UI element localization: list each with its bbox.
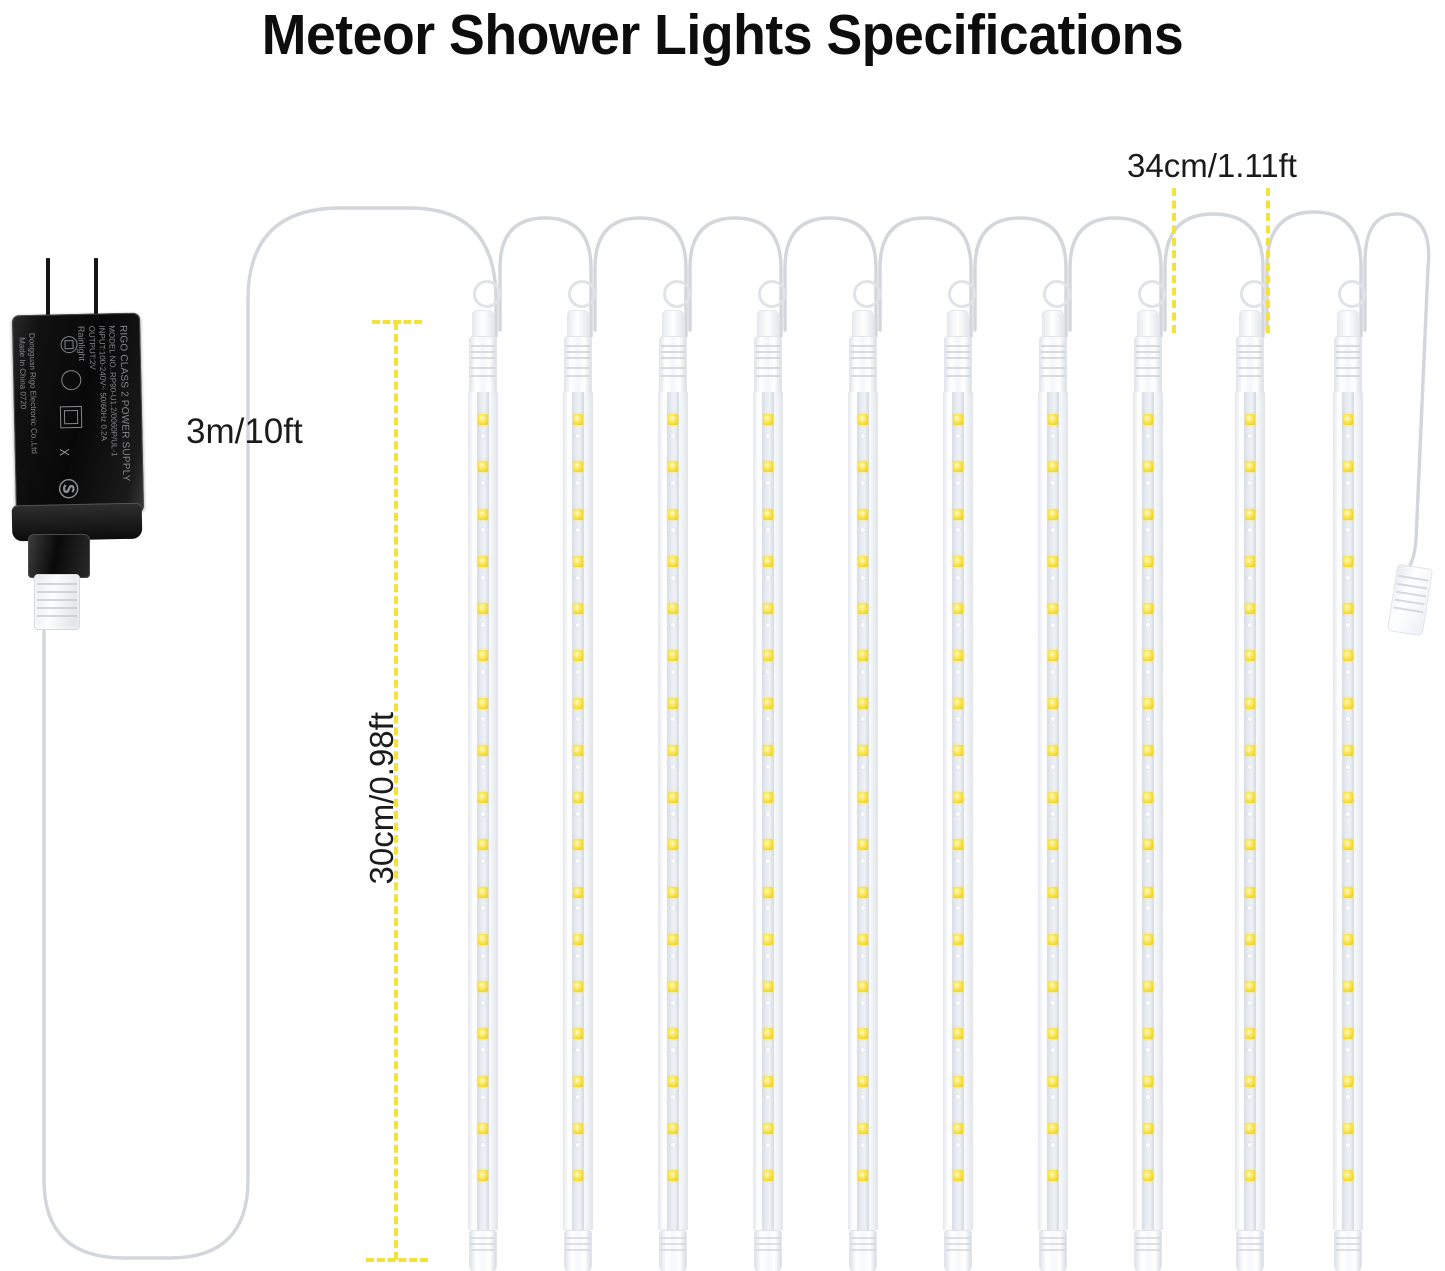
pcb-solder-dot <box>1248 812 1252 816</box>
led-chip <box>478 934 488 945</box>
pcb-solder-dot <box>481 954 485 958</box>
pcb-solder-dot <box>1146 954 1150 958</box>
tube-cap-bottom <box>564 1230 592 1271</box>
pcb-solder-dot <box>1051 954 1055 958</box>
page-title: Meteor Shower Lights Specifications <box>43 2 1401 68</box>
pcb-solder-dot <box>1051 670 1055 674</box>
led-chip <box>1143 461 1153 472</box>
led-chip <box>953 839 963 850</box>
tube-cap-bottom <box>1039 1230 1067 1271</box>
led-chip <box>858 1170 868 1181</box>
hanging-loop-icon <box>663 280 691 308</box>
tube-body <box>1038 392 1068 1230</box>
led-chip <box>858 414 868 425</box>
pcb-solder-dot <box>671 528 675 532</box>
pcb-solder-dot <box>1346 765 1350 769</box>
pcb-solder-dot <box>481 1048 485 1052</box>
pcb-solder-dot <box>1146 859 1150 863</box>
led-chip <box>573 650 583 661</box>
pcb-solder-dot <box>1051 1095 1055 1099</box>
led-chip <box>1343 1123 1353 1134</box>
led-chip <box>1048 461 1058 472</box>
led-chip <box>1143 1028 1153 1039</box>
pcb-solder-dot <box>481 1095 485 1099</box>
led-chip <box>1343 1170 1353 1181</box>
pcb-solder-dot <box>671 1048 675 1052</box>
pcb-solder-dot <box>1248 954 1252 958</box>
pcb-solder-dot <box>1346 623 1350 627</box>
pcb-solder-dot <box>1051 434 1055 438</box>
pcb-solder-dot <box>1146 765 1150 769</box>
hanging-loop-icon <box>1338 280 1366 308</box>
pcb-solder-dot <box>481 717 485 721</box>
led-chip <box>1245 887 1255 898</box>
pcb-solder-dot <box>766 1095 770 1099</box>
cord-length-label: 3m/10ft <box>186 412 303 452</box>
led-chip <box>573 1123 583 1134</box>
pcb-solder-dot <box>766 1001 770 1005</box>
led-chip <box>573 1076 583 1087</box>
pcb-solder-dot <box>1346 1095 1350 1099</box>
led-chip <box>858 698 868 709</box>
pcb-solder-dot <box>576 812 580 816</box>
pcb-solder-dot <box>481 765 485 769</box>
led-chip <box>573 745 583 756</box>
tube-cap-top <box>1334 336 1362 396</box>
led-chip <box>1143 603 1153 614</box>
led-chip <box>1048 792 1058 803</box>
pcb-solder-dot <box>1051 576 1055 580</box>
led-chip <box>1048 650 1058 661</box>
pcb-solder-dot <box>1051 906 1055 910</box>
pcb-solder-dot <box>1248 1095 1252 1099</box>
pcb-solder-dot <box>481 1001 485 1005</box>
led-chip <box>763 981 773 992</box>
tube-length-label-text: 30cm/0.98ft <box>363 712 401 884</box>
pcb-solder-dot <box>956 1001 960 1005</box>
pcb-solder-dot <box>1248 1001 1252 1005</box>
pcb-solder-dot <box>671 1095 675 1099</box>
tube-cap-top <box>754 336 782 396</box>
led-chip <box>478 792 488 803</box>
led-chip <box>1245 509 1255 520</box>
pcb-solder-dot <box>671 1143 675 1147</box>
pcb-solder-dot <box>1346 906 1350 910</box>
pcb-solder-dot <box>956 434 960 438</box>
led-pcb-strip <box>857 392 869 1230</box>
hanging-loop-icon <box>948 280 976 308</box>
led-chip <box>1245 461 1255 472</box>
pcb-solder-dot <box>576 434 580 438</box>
pcb-solder-dot <box>1051 859 1055 863</box>
led-chip <box>858 981 868 992</box>
pcb-solder-dot <box>766 765 770 769</box>
tube-body <box>848 392 878 1230</box>
led-chip <box>1343 698 1353 709</box>
led-chip <box>478 698 488 709</box>
led-chip <box>1143 414 1153 425</box>
hanging-loop-icon <box>473 280 501 308</box>
spacing-guide-line-right <box>1266 188 1270 333</box>
adapter-output-connector <box>34 574 80 630</box>
specification-diagram: Meteor Shower Lights Specifications <box>0 0 1445 1271</box>
pcb-solder-dot <box>861 1001 865 1005</box>
pcb-solder-dot <box>481 623 485 627</box>
pcb-solder-dot <box>1146 576 1150 580</box>
pcb-solder-dot <box>1248 859 1252 863</box>
pcb-solder-dot <box>671 765 675 769</box>
pcb-solder-dot <box>671 576 675 580</box>
pcb-solder-dot <box>1051 1001 1055 1005</box>
pcb-solder-dot <box>956 670 960 674</box>
pcb-solder-dot <box>576 765 580 769</box>
pcb-solder-dot <box>1248 576 1252 580</box>
led-chip <box>478 1076 488 1087</box>
led-chip <box>858 887 868 898</box>
led-chip <box>763 650 773 661</box>
led-chip <box>1245 839 1255 850</box>
led-chip <box>1048 1028 1058 1039</box>
led-chip <box>573 556 583 567</box>
adapter-print-line-5: Rainlight <box>76 326 87 361</box>
pcb-solder-dot <box>766 717 770 721</box>
led-chip <box>858 934 868 945</box>
pcb-solder-dot <box>766 576 770 580</box>
led-chip <box>1343 792 1353 803</box>
pcb-solder-dot <box>1051 765 1055 769</box>
pcb-solder-dot <box>956 717 960 721</box>
led-chip <box>1343 934 1353 945</box>
led-chip <box>668 887 678 898</box>
led-chip <box>953 461 963 472</box>
pcb-solder-dot <box>1248 623 1252 627</box>
led-chip <box>478 887 488 898</box>
tube-body <box>563 392 593 1230</box>
led-chip <box>1143 934 1153 945</box>
led-chip <box>1245 792 1255 803</box>
hanging-loop-icon <box>758 280 786 308</box>
pcb-solder-dot <box>1146 481 1150 485</box>
led-chip <box>1343 461 1353 472</box>
led-chip <box>1048 839 1058 850</box>
led-chip <box>478 1028 488 1039</box>
pcb-solder-dot <box>1146 812 1150 816</box>
pcb-solder-dot <box>1248 434 1252 438</box>
tube-cap-bottom <box>469 1230 497 1271</box>
pcb-solder-dot <box>956 1048 960 1052</box>
pcb-solder-dot <box>576 623 580 627</box>
led-chip <box>953 698 963 709</box>
led-chip <box>668 934 678 945</box>
tube-cap-top <box>564 336 592 396</box>
led-pcb-strip <box>1342 392 1354 1230</box>
led-chip <box>573 792 583 803</box>
pcb-solder-dot <box>861 481 865 485</box>
led-chip <box>1143 698 1153 709</box>
tube-spacing-label: 34cm/1.11ft <box>1127 147 1297 185</box>
led-chip <box>573 603 583 614</box>
pcb-solder-dot <box>766 859 770 863</box>
pcb-solder-dot <box>1248 717 1252 721</box>
led-chip <box>763 887 773 898</box>
pcb-solder-dot <box>576 954 580 958</box>
led-chip <box>953 1123 963 1134</box>
tube-body <box>1133 392 1163 1230</box>
led-chip <box>763 698 773 709</box>
tube-body <box>753 392 783 1230</box>
led-chip <box>478 1170 488 1181</box>
led-chip <box>1245 603 1255 614</box>
adapter-print-line-4: OUTPUT:2V <box>87 326 97 370</box>
led-chip <box>573 1170 583 1181</box>
led-chip <box>573 839 583 850</box>
led-chip <box>668 745 678 756</box>
pcb-solder-dot <box>1346 954 1350 958</box>
led-chip <box>1245 981 1255 992</box>
led-chip <box>1143 981 1153 992</box>
led-chip <box>478 509 488 520</box>
pcb-solder-dot <box>861 670 865 674</box>
vde-mark-icon <box>61 370 81 390</box>
pcb-solder-dot <box>766 812 770 816</box>
led-chip <box>953 792 963 803</box>
led-chip <box>1048 887 1058 898</box>
led-chip <box>858 461 868 472</box>
pcb-solder-dot <box>861 954 865 958</box>
led-pcb-strip <box>477 392 489 1230</box>
led-chip <box>858 1123 868 1134</box>
pcb-solder-dot <box>861 765 865 769</box>
tube-cap-bottom <box>1236 1230 1264 1271</box>
led-chip <box>1343 1076 1353 1087</box>
led-pcb-strip <box>952 392 964 1230</box>
tube-length-label: 30cm/0.98ft <box>363 540 401 712</box>
pcb-solder-dot <box>766 623 770 627</box>
led-chip <box>668 1123 678 1134</box>
pcb-solder-dot <box>576 1048 580 1052</box>
pcb-solder-dot <box>956 1095 960 1099</box>
led-chip <box>1048 745 1058 756</box>
led-chip <box>1245 556 1255 567</box>
pcb-solder-dot <box>1051 1048 1055 1052</box>
led-chip <box>1245 1028 1255 1039</box>
tube-cap-top <box>1039 336 1067 396</box>
tube-cap-top <box>1134 336 1162 396</box>
pcb-solder-dot <box>956 576 960 580</box>
led-chip <box>953 981 963 992</box>
led-chip <box>668 981 678 992</box>
led-chip <box>573 981 583 992</box>
pcb-solder-dot <box>861 812 865 816</box>
led-chip <box>858 509 868 520</box>
chain-end-connector <box>1387 564 1433 637</box>
pcb-solder-dot <box>1051 812 1055 816</box>
led-chip <box>478 603 488 614</box>
tube-cap-top <box>1236 336 1264 396</box>
led-chip <box>1048 698 1058 709</box>
led-chip <box>668 603 678 614</box>
pcb-solder-dot <box>576 906 580 910</box>
pcb-solder-dot <box>1051 528 1055 532</box>
led-chip <box>1245 650 1255 661</box>
tube-body <box>1235 392 1265 1230</box>
pcb-solder-dot <box>861 1048 865 1052</box>
pcb-solder-dot <box>481 434 485 438</box>
led-chip <box>1048 556 1058 567</box>
led-chip <box>1143 556 1153 567</box>
pcb-solder-dot <box>1051 717 1055 721</box>
pcb-solder-dot <box>671 623 675 627</box>
pcb-solder-dot <box>1146 1001 1150 1005</box>
pcb-solder-dot <box>1248 528 1252 532</box>
pcb-solder-dot <box>1146 717 1150 721</box>
led-chip <box>1343 556 1353 567</box>
pcb-solder-dot <box>956 623 960 627</box>
led-chip <box>1343 650 1353 661</box>
pcb-solder-dot <box>861 623 865 627</box>
pcb-solder-dot <box>1146 434 1150 438</box>
pcb-solder-dot <box>481 906 485 910</box>
pcb-solder-dot <box>1146 528 1150 532</box>
led-chip <box>1048 1076 1058 1087</box>
adapter-prong-left <box>46 258 50 316</box>
tube-body <box>468 392 498 1230</box>
tube-cap-bottom <box>1334 1230 1362 1271</box>
led-chip <box>763 1170 773 1181</box>
led-chip <box>1343 603 1353 614</box>
pcb-solder-dot <box>671 859 675 863</box>
led-chip <box>1048 603 1058 614</box>
led-chip <box>668 1076 678 1087</box>
led-chip <box>478 1123 488 1134</box>
led-pcb-strip <box>1142 392 1154 1230</box>
led-chip <box>478 556 488 567</box>
pcb-solder-dot <box>671 481 675 485</box>
led-chip <box>1048 1170 1058 1181</box>
pcb-solder-dot <box>1346 434 1350 438</box>
pcb-solder-dot <box>1146 1095 1150 1099</box>
tube-cap-top <box>944 336 972 396</box>
pcb-solder-dot <box>956 1143 960 1147</box>
pcb-solder-dot <box>766 481 770 485</box>
led-chip <box>1143 792 1153 803</box>
tube-cap-top <box>469 336 497 396</box>
led-chip <box>763 1028 773 1039</box>
pcb-solder-dot <box>481 1143 485 1147</box>
pcb-solder-dot <box>1248 1048 1252 1052</box>
pcb-solder-dot <box>671 717 675 721</box>
led-chip <box>1048 1123 1058 1134</box>
led-chip <box>1245 698 1255 709</box>
led-chip <box>668 1170 678 1181</box>
led-chip <box>668 792 678 803</box>
pcb-solder-dot <box>1346 670 1350 674</box>
tube-body <box>1333 392 1363 1230</box>
tube-cap-top <box>659 336 687 396</box>
adapter-print-line-1: RIGO CLASS 2 POWER SUPPLY <box>117 325 131 482</box>
led-chip <box>763 745 773 756</box>
pcb-solder-dot <box>1248 1143 1252 1147</box>
spacing-guide-line-left <box>1172 188 1176 333</box>
led-chip <box>953 556 963 567</box>
pcb-solder-dot <box>956 812 960 816</box>
led-chip <box>1048 509 1058 520</box>
pcb-solder-dot <box>861 717 865 721</box>
led-chip <box>573 698 583 709</box>
led-chip <box>478 461 488 472</box>
led-chip <box>953 509 963 520</box>
adapter-prong-right <box>94 258 98 316</box>
pcb-solder-dot <box>576 1001 580 1005</box>
led-chip <box>763 1076 773 1087</box>
led-chip <box>668 461 678 472</box>
led-chip <box>668 839 678 850</box>
pcb-solder-dot <box>576 717 580 721</box>
pcb-solder-dot <box>956 859 960 863</box>
led-chip <box>1143 887 1153 898</box>
pcb-solder-dot <box>1248 670 1252 674</box>
pcb-solder-dot <box>766 670 770 674</box>
pcb-solder-dot <box>1346 1143 1350 1147</box>
pcb-solder-dot <box>861 434 865 438</box>
pcb-solder-dot <box>956 954 960 958</box>
adapter-print-line-7: Made In China 0720 <box>17 337 28 409</box>
adapter-strain-relief <box>28 534 90 578</box>
pcb-solder-dot <box>1346 1001 1350 1005</box>
pcb-solder-dot <box>481 812 485 816</box>
led-chip <box>953 650 963 661</box>
pcb-solder-dot <box>861 906 865 910</box>
pcb-solder-dot <box>766 528 770 532</box>
led-chip <box>1245 745 1255 756</box>
led-chip <box>953 745 963 756</box>
hanging-loop-icon <box>1240 280 1268 308</box>
led-chip <box>1048 934 1058 945</box>
pcb-solder-dot <box>861 1095 865 1099</box>
pcb-solder-dot <box>1346 812 1350 816</box>
pcb-solder-dot <box>671 954 675 958</box>
pcb-solder-dot <box>671 906 675 910</box>
led-chip <box>953 603 963 614</box>
pcb-solder-dot <box>1346 859 1350 863</box>
weee-crossed-bin-icon: ☓ <box>53 448 73 457</box>
led-chip <box>573 461 583 472</box>
pcb-solder-dot <box>576 528 580 532</box>
tube-length-tick-bottom <box>366 1258 428 1262</box>
pcb-solder-dot <box>1248 765 1252 769</box>
hanging-loop-icon <box>853 280 881 308</box>
pcb-solder-dot <box>481 576 485 580</box>
led-chip <box>1245 1170 1255 1181</box>
hanging-loop-icon <box>1138 280 1166 308</box>
led-chip <box>858 792 868 803</box>
pcb-solder-dot <box>576 859 580 863</box>
led-chip <box>573 509 583 520</box>
led-chip <box>763 1123 773 1134</box>
led-chip <box>953 1076 963 1087</box>
led-chip <box>858 603 868 614</box>
led-chip <box>953 887 963 898</box>
pcb-solder-dot <box>1346 1048 1350 1052</box>
hanging-loop-icon <box>568 280 596 308</box>
led-chip <box>953 414 963 425</box>
pcb-solder-dot <box>1248 481 1252 485</box>
led-chip <box>668 509 678 520</box>
led-pcb-strip <box>762 392 774 1230</box>
led-pcb-strip <box>667 392 679 1230</box>
led-chip <box>1143 650 1153 661</box>
led-chip <box>573 934 583 945</box>
